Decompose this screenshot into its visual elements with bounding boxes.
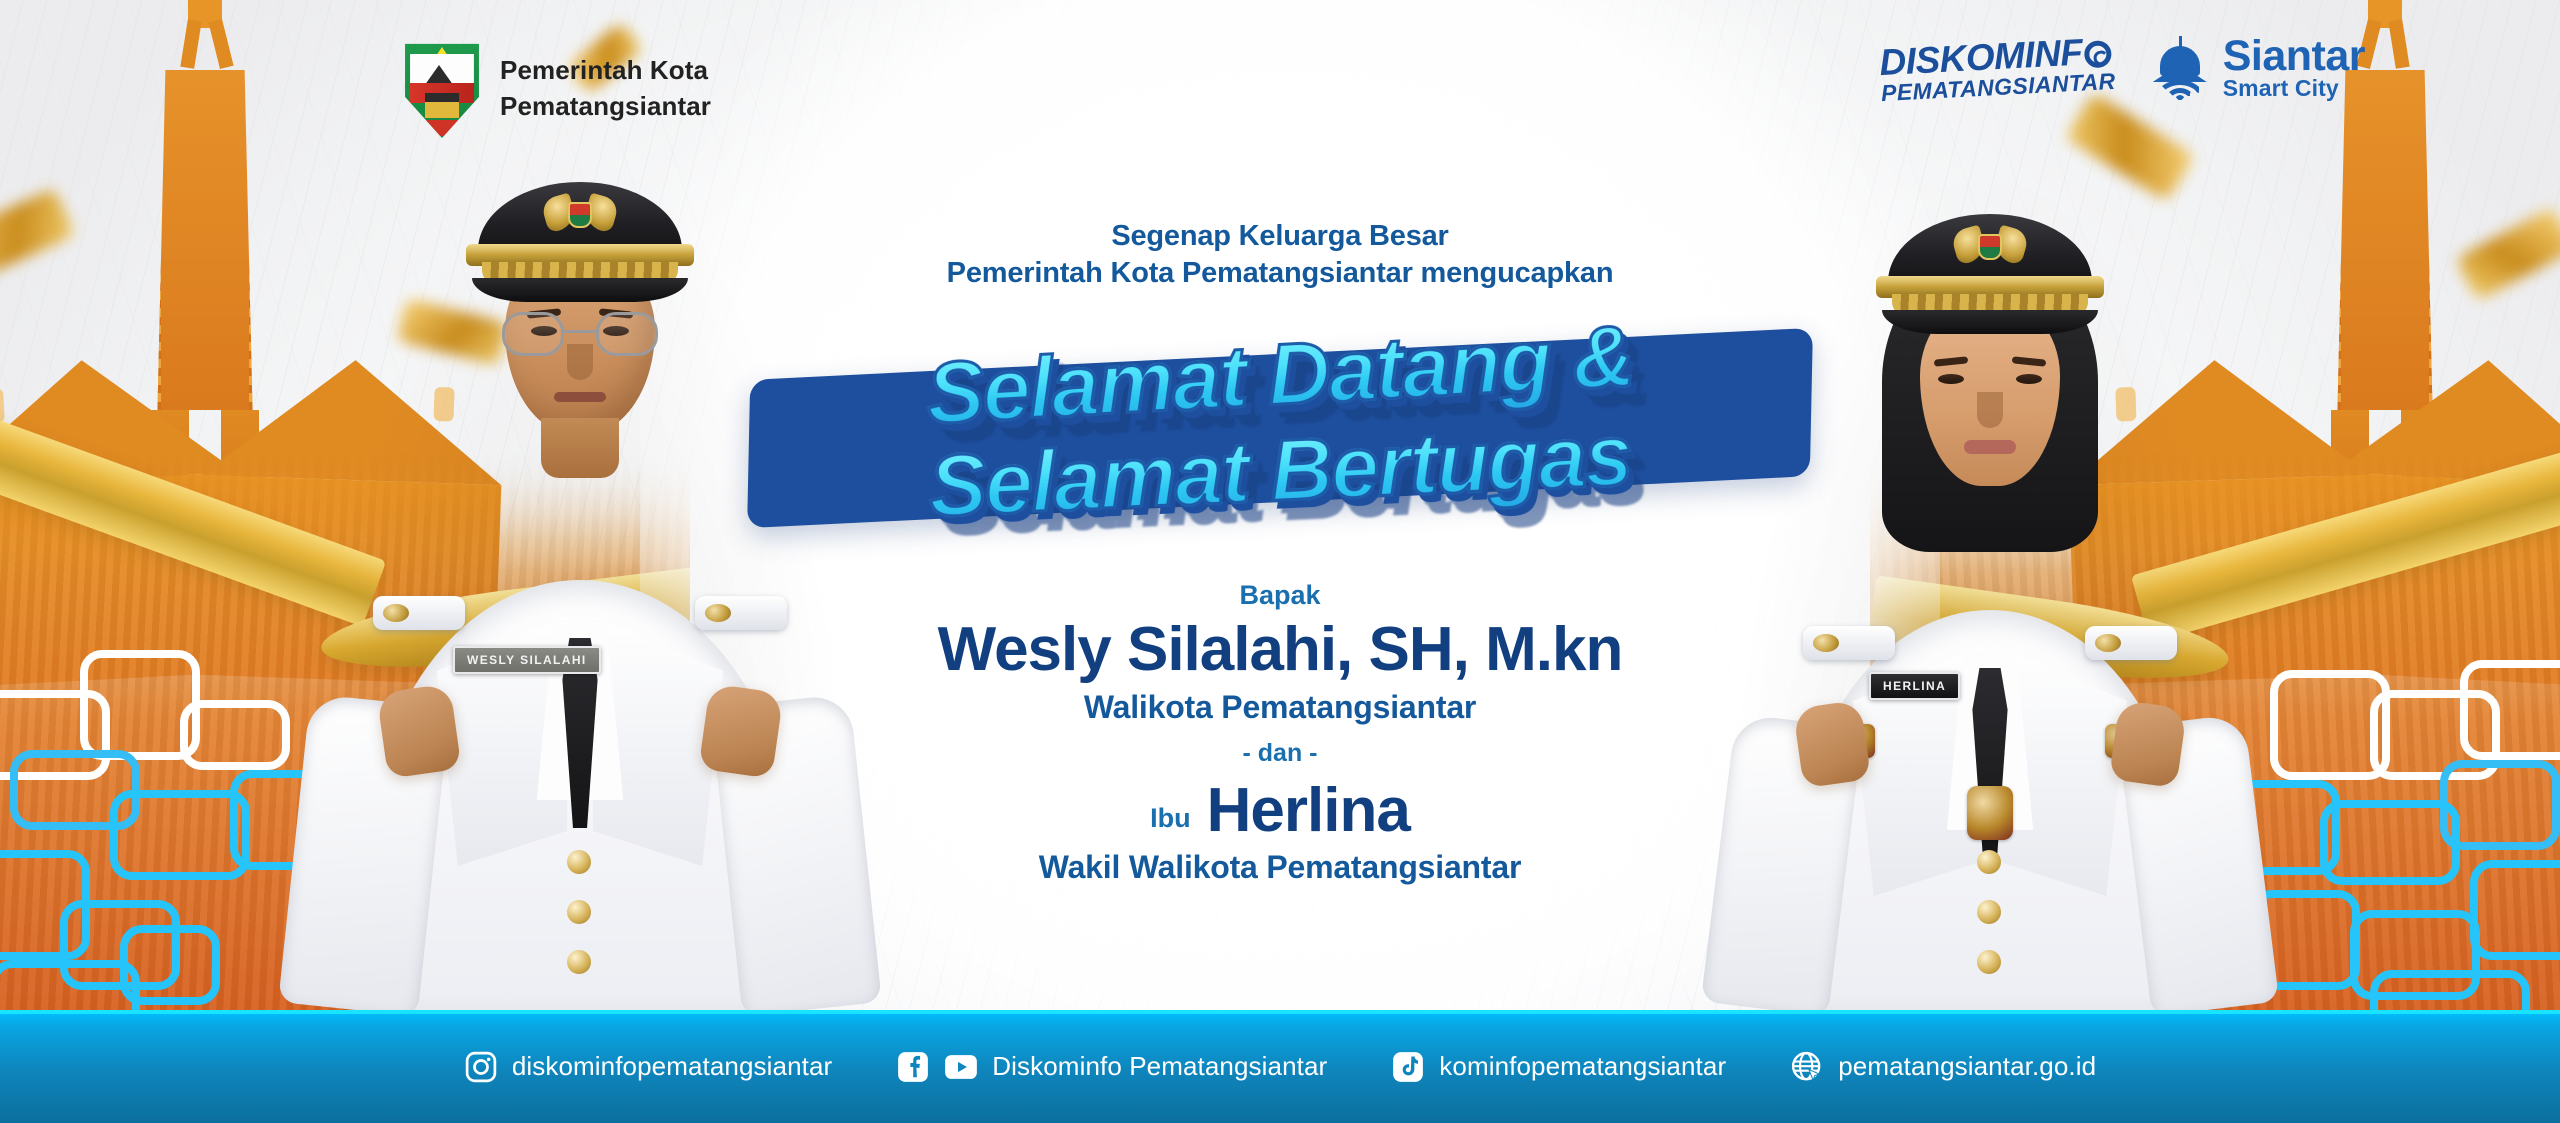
footer-item-instagram[interactable]: diskominfopematangsiantar <box>464 1050 832 1084</box>
youtube-icon <box>944 1050 978 1084</box>
footer-label-instagram: diskominfopematangsiantar <box>512 1051 832 1082</box>
mayor-official-cap-icon <box>460 182 700 302</box>
center-content: Segenap Keluarga Besar Pemerintah Kota P… <box>720 218 1840 886</box>
diskominfo-logo: DISKOMINF PEMATANGSIANTAR <box>1879 33 2117 105</box>
garuda-emblem-icon <box>544 188 616 240</box>
footer-item-facebook-youtube[interactable]: Diskominfo Pematangsiantar <box>896 1050 1327 1084</box>
government-logo-line1: Pemerintah Kota <box>500 53 711 89</box>
mayor-button-row <box>567 824 593 1000</box>
statue-figure-icon <box>130 0 280 70</box>
vice-mayor-epaulet-right <box>2085 626 2177 660</box>
mayor-nametag: WESLY SILALAHI <box>453 646 601 674</box>
vice-mayor-chest-medal <box>1967 786 2013 840</box>
preamble-line1: Segenap Keluarga Besar <box>720 218 1840 255</box>
mayor-epaulet-left <box>373 596 465 630</box>
garuda-emblem-icon-2 <box>1954 220 2026 272</box>
pematangsiantar-city-crest-icon <box>400 40 484 138</box>
vice-mayor-role: Wakil Walikota Pematangsiantar <box>720 849 1840 886</box>
footer-item-website[interactable]: pematangsiantar.go.id <box>1790 1050 2096 1084</box>
vice-mayor-honorific: Ibu <box>1150 801 1191 836</box>
siantar-smart-city-logo: Siantar Smart City <box>2149 36 2365 102</box>
government-logo-text: Pemerintah Kota Pematangsiantar <box>500 53 711 125</box>
vice-mayor-fist-right <box>2109 700 2187 789</box>
names-block: Bapak Wesly Silalahi, SH, M.kn Walikota … <box>720 578 1840 886</box>
vice-mayor-nametag: HERLINA <box>1869 672 1960 700</box>
headline-block: Selamat Datang & Selamat Bertugas <box>720 326 1840 556</box>
vice-mayor-name: Herlina <box>1207 776 1410 845</box>
instagram-icon <box>464 1050 498 1084</box>
preamble-line2: Pemerintah Kota Pematangsiantar mengucap… <box>720 255 1840 292</box>
siantar-logo-line2: Smart City <box>2223 76 2365 101</box>
mayor-role: Walikota Pematangsiantar <box>720 689 1840 726</box>
footer-label-website: pematangsiantar.go.id <box>1838 1051 2096 1082</box>
mayor-name: Wesly Silalahi, SH, M.kn <box>720 615 1840 684</box>
footer-label-tiktok: kominfopematangsiantar <box>1439 1051 1726 1082</box>
government-logo: Pemerintah Kota Pematangsiantar <box>400 40 711 138</box>
vice-mayor-button-row <box>1977 824 2003 1000</box>
tiktok-icon <box>1391 1050 1425 1084</box>
mayor-honorific: Bapak <box>720 578 1840 613</box>
globe-website-icon <box>1790 1050 1824 1084</box>
footer-label-facebook-youtube: Diskominfo Pematangsiantar <box>992 1051 1327 1082</box>
social-footer-bar: diskominfopematangsiantar Diskominfo Pem… <box>0 1010 2560 1123</box>
mayor-fist-left <box>376 683 461 778</box>
footer-item-tiktok[interactable]: kominfopematangsiantar <box>1391 1050 1726 1084</box>
gold-confetti-4 <box>2455 207 2560 301</box>
banner-root: WESLY SILALAHI <box>0 0 2560 1123</box>
vice-mayor-name-row: Ibu Herlina <box>720 774 1840 849</box>
government-logo-line2: Pematangsiantar <box>500 89 711 125</box>
siantar-dome-wifi-icon <box>2149 36 2211 102</box>
conjunction-dan: - dan - <box>720 739 1840 768</box>
mayor-glasses-icon <box>502 312 658 358</box>
facebook-icon <box>896 1050 930 1084</box>
partner-logos: DISKOMINF PEMATANGSIANTAR Siantar Smart … <box>1880 36 2365 102</box>
mayor-head <box>505 248 655 434</box>
gold-confetti-1 <box>0 188 75 284</box>
globe-swirl-icon <box>2084 40 2112 68</box>
vice-mayor-official-cap-icon <box>1870 214 2110 334</box>
siantar-logo-line1: Siantar <box>2223 37 2365 77</box>
